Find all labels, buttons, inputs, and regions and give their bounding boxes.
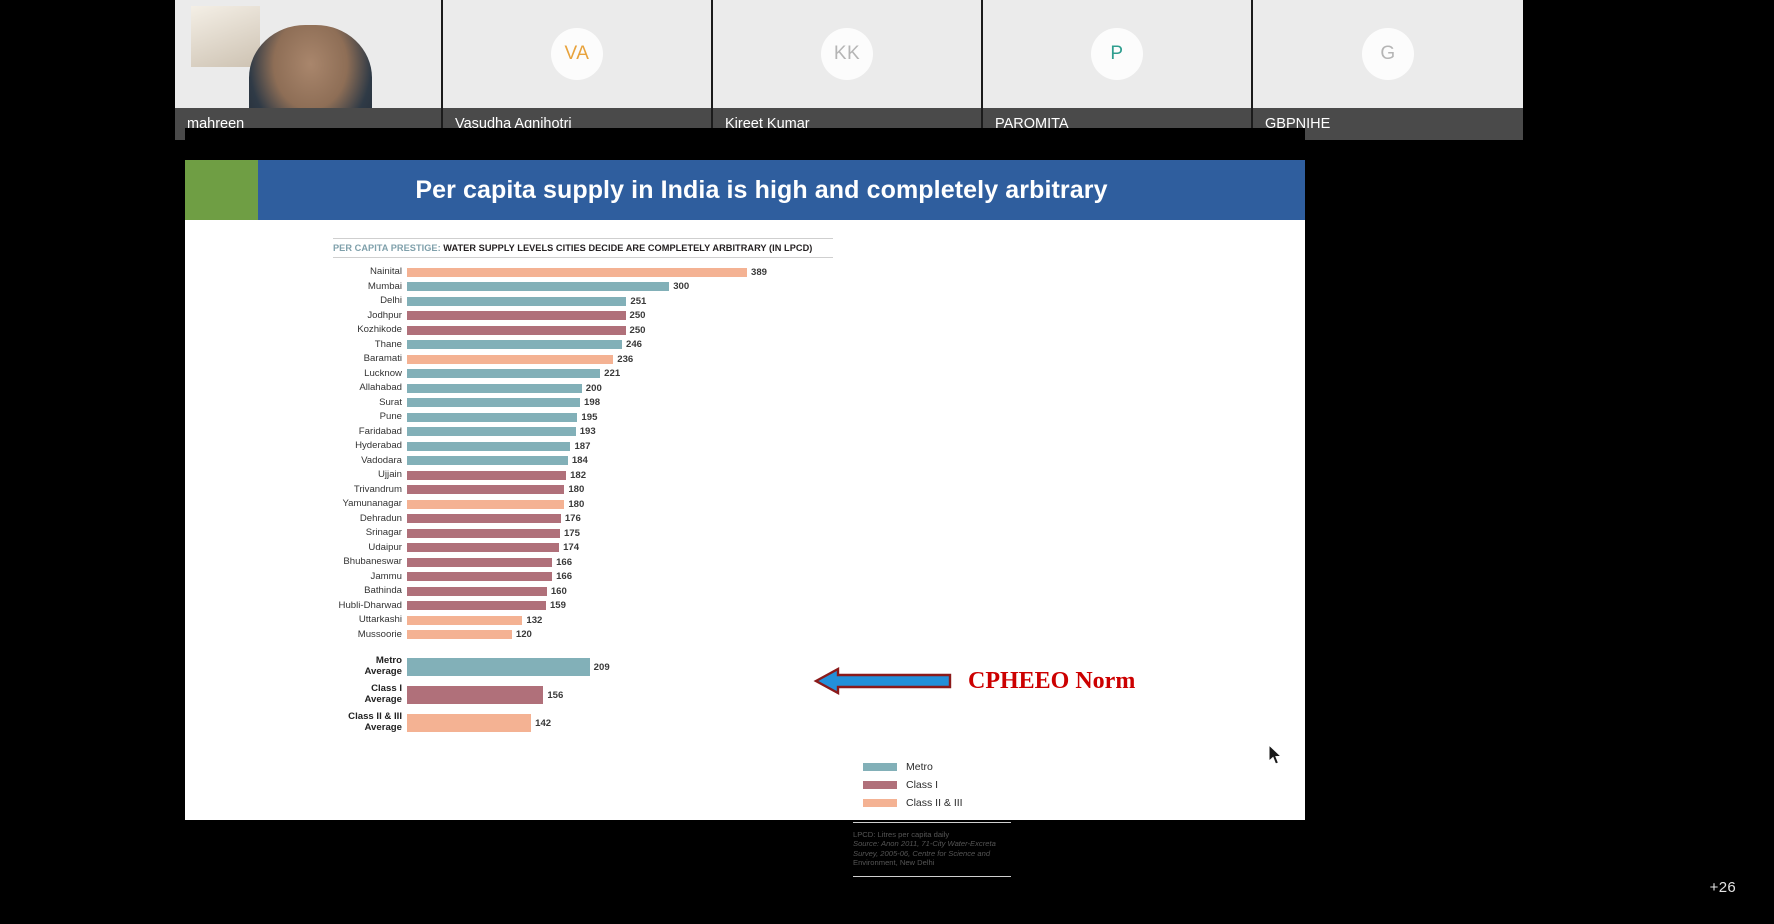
bar-row: Lucknow221 xyxy=(333,367,833,382)
average-rows-container: MetroAverage209Class IAverage156Class II… xyxy=(333,656,833,734)
legend-swatch-icon xyxy=(863,781,897,789)
participant-filmstrip: mahreen VA Vasudha Agnihotri KK Kireet K… xyxy=(175,0,1515,140)
participant-tile-gbpnihe[interactable]: G GBPNIHE xyxy=(1253,0,1523,140)
bar-category-label: Srinagar xyxy=(333,528,407,538)
bar-category-label: Kozhikode xyxy=(333,325,407,335)
left-arrow-icon xyxy=(812,666,954,696)
bar xyxy=(407,616,522,625)
bar-row: Jodhpur250 xyxy=(333,309,833,324)
bar-category-label: Yamunanagar xyxy=(333,499,407,509)
bar-track: 300 xyxy=(407,281,833,292)
bar-category-label: Surat xyxy=(333,398,407,408)
bar-row: Mussoorie120 xyxy=(333,628,833,643)
overflow-participants-badge[interactable]: +26 xyxy=(1710,879,1736,896)
bar-category-label: Lucknow xyxy=(333,369,407,379)
bar-category-label: Hyderabad xyxy=(333,441,407,451)
bar-track: 198 xyxy=(407,397,833,408)
bar-track: 166 xyxy=(407,557,833,568)
bar-value-label: 166 xyxy=(556,557,572,568)
presentation-slide: Per capita supply in India is high and c… xyxy=(185,160,1305,820)
slide-header: Per capita supply in India is high and c… xyxy=(185,160,1305,220)
bar-row: Hyderabad187 xyxy=(333,439,833,454)
bar-value-label: 195 xyxy=(581,412,597,423)
chart-title-prefix: PER CAPITA PRESTIGE: xyxy=(333,243,441,253)
bar-category-label: Trivandrum xyxy=(333,485,407,495)
bar-row: Surat198 xyxy=(333,396,833,411)
bar-value-label: 174 xyxy=(563,542,579,553)
bar-value-label: 180 xyxy=(568,484,584,495)
average-row: MetroAverage209 xyxy=(333,656,833,678)
bar-track: 120 xyxy=(407,629,833,640)
bar-track: 176 xyxy=(407,513,833,524)
avatar: VA xyxy=(551,28,603,80)
bar xyxy=(407,384,582,393)
bar-row: Uttarkashi132 xyxy=(333,613,833,628)
bar-category-label: Nainital xyxy=(333,267,407,277)
average-value-label: 209 xyxy=(594,662,610,673)
bar-track: 166 xyxy=(407,571,833,582)
screen-root: mahreen VA Vasudha Agnihotri KK Kireet K… xyxy=(0,0,1774,924)
average-value-label: 142 xyxy=(535,718,551,729)
bar-value-label: 236 xyxy=(617,354,633,365)
chart-title-main: WATER SUPPLY LEVELS CITIES DECIDE ARE CO… xyxy=(443,243,812,253)
note-line: LPCD: Litres per capita daily xyxy=(853,830,1011,839)
bar-row: Yamunanagar180 xyxy=(333,497,833,512)
bar-track: 160 xyxy=(407,586,833,597)
bar-track: 250 xyxy=(407,325,833,336)
bar xyxy=(407,282,669,291)
average-bar xyxy=(407,714,531,732)
bar-row: Trivandrum180 xyxy=(333,483,833,498)
bar-category-label: Ujjain xyxy=(333,470,407,480)
avatar: G xyxy=(1362,28,1414,80)
legend-swatch-icon xyxy=(863,763,897,771)
bar-row: Vadodara184 xyxy=(333,454,833,469)
bar-row: Pune195 xyxy=(333,410,833,425)
bar xyxy=(407,442,570,451)
average-bar-track: 142 xyxy=(407,714,833,732)
bar-category-label: Allahabad xyxy=(333,383,407,393)
bar-track: 174 xyxy=(407,542,833,553)
bar-value-label: 198 xyxy=(584,397,600,408)
bar-value-label: 176 xyxy=(565,513,581,524)
bar xyxy=(407,413,577,422)
bar-category-label: Hubli-Dharwad xyxy=(333,601,407,611)
average-bar-track: 156 xyxy=(407,686,833,704)
bar xyxy=(407,427,576,436)
average-row: Class IAverage156 xyxy=(333,684,833,706)
legend-item-class-i: Class I xyxy=(863,776,963,794)
bar xyxy=(407,456,568,465)
bar-track: 236 xyxy=(407,354,833,365)
bar-track: 180 xyxy=(407,484,833,495)
avatar-wrap: KK xyxy=(713,0,981,108)
note-line: Survey, 2005-06, Centre for Science and xyxy=(853,849,1011,858)
bar-row: Dehradun176 xyxy=(333,512,833,527)
bar-row: Delhi251 xyxy=(333,294,833,309)
note-line: Source: Anon 2011, 71-City Water-Excreta xyxy=(853,839,1011,848)
bar-value-label: 132 xyxy=(526,615,542,626)
bar-category-label: Pune xyxy=(333,412,407,422)
cpheeo-callout-label: CPHEEO Norm xyxy=(968,668,1135,695)
bar-row: Mumbai300 xyxy=(333,280,833,295)
bar-track: 187 xyxy=(407,441,833,452)
average-bar xyxy=(407,686,543,704)
bar-chart: PER CAPITA PRESTIGE: WATER SUPPLY LEVELS… xyxy=(333,238,833,740)
bar-value-label: 200 xyxy=(586,383,602,394)
bar-value-label: 246 xyxy=(626,339,642,350)
bar xyxy=(407,268,747,277)
bar-category-label: Bhubaneswar xyxy=(333,557,407,567)
bar xyxy=(407,558,552,567)
cpheeo-callout: CPHEEO Norm xyxy=(812,666,1135,696)
bar xyxy=(407,297,626,306)
bar-track: 175 xyxy=(407,528,833,539)
bar xyxy=(407,529,560,538)
bar xyxy=(407,630,512,639)
bar-row: Srinagar175 xyxy=(333,526,833,541)
bar-value-label: 159 xyxy=(550,600,566,611)
bar-category-label: Udaipur xyxy=(333,543,407,553)
bar-category-label: Baramati xyxy=(333,354,407,364)
bar-track: 159 xyxy=(407,600,833,611)
avatar-wrap: VA xyxy=(443,0,711,108)
bar-category-label: Faridabad xyxy=(333,427,407,437)
bar-value-label: 166 xyxy=(556,571,572,582)
bar-value-label: 193 xyxy=(580,426,596,437)
bar-track: 221 xyxy=(407,368,833,379)
average-category-label: Class IAverage xyxy=(333,684,407,705)
bar-category-label: Mussoorie xyxy=(333,630,407,640)
slide-header-accent xyxy=(185,160,258,220)
bar-track: 251 xyxy=(407,296,833,307)
bar-rows-container: Nainital389Mumbai300Delhi251Jodhpur250Ko… xyxy=(333,265,833,642)
bar-value-label: 182 xyxy=(570,470,586,481)
bar-category-label: Bathinda xyxy=(333,586,407,596)
bar xyxy=(407,514,561,523)
bar-value-label: 120 xyxy=(516,629,532,640)
participant-tile-paromita[interactable]: P PAROMITA xyxy=(983,0,1253,140)
bar-category-label: Vadodara xyxy=(333,456,407,466)
bar-row: Faridabad193 xyxy=(333,425,833,440)
bar-category-label: Delhi xyxy=(333,296,407,306)
bar-value-label: 250 xyxy=(630,310,646,321)
legend-item-class-ii-iii: Class II & III xyxy=(863,794,963,812)
bar xyxy=(407,326,626,335)
average-bar-track: 209 xyxy=(407,658,833,676)
participant-tile-vasudha-agnihotri[interactable]: VA Vasudha Agnihotri xyxy=(443,0,713,140)
bar-row: Hubli-Dharwad159 xyxy=(333,599,833,614)
chart-title: PER CAPITA PRESTIGE: WATER SUPPLY LEVELS… xyxy=(333,238,833,258)
bar-track: 200 xyxy=(407,383,833,394)
bar-value-label: 251 xyxy=(630,296,646,307)
bar-row: Nainital389 xyxy=(333,265,833,280)
legend-swatch-icon xyxy=(863,799,897,807)
legend-label: Class I xyxy=(906,779,938,791)
bar-row: Baramati236 xyxy=(333,352,833,367)
bar xyxy=(407,311,626,320)
bar-value-label: 389 xyxy=(751,267,767,278)
legend-label: Class II & III xyxy=(906,797,963,809)
bar xyxy=(407,601,546,610)
bar xyxy=(407,500,564,509)
avatar-wrap: G xyxy=(1253,0,1523,108)
bar xyxy=(407,543,559,552)
bar xyxy=(407,485,564,494)
bar-track: 193 xyxy=(407,426,833,437)
bar-track: 195 xyxy=(407,412,833,423)
bar-value-label: 300 xyxy=(673,281,689,292)
slide-title: Per capita supply in India is high and c… xyxy=(258,176,1305,205)
bar-row: Udaipur174 xyxy=(333,541,833,556)
bar-value-label: 187 xyxy=(574,441,590,452)
bar-value-label: 160 xyxy=(551,586,567,597)
chart-source-note: LPCD: Litres per capita daily Source: An… xyxy=(853,822,1011,877)
bar-track: 180 xyxy=(407,499,833,510)
bar-value-label: 250 xyxy=(630,325,646,336)
chart-legend: Metro Class I Class II & III xyxy=(863,758,963,812)
avatar: P xyxy=(1091,28,1143,80)
legend-item-metro: Metro xyxy=(863,758,963,776)
bar-track: 250 xyxy=(407,310,833,321)
bar xyxy=(407,355,613,364)
bar-value-label: 180 xyxy=(568,499,584,510)
shared-screen-area: Per capita supply in India is high and c… xyxy=(185,128,1305,918)
bar-category-label: Mumbai xyxy=(333,282,407,292)
chart-area: PER CAPITA PRESTIGE: WATER SUPPLY LEVELS… xyxy=(185,220,1305,820)
bar-row: Bhubaneswar166 xyxy=(333,555,833,570)
avatar: KK xyxy=(821,28,873,80)
bar-row: Ujjain182 xyxy=(333,468,833,483)
bar-track: 184 xyxy=(407,455,833,466)
slide-header-bar: Per capita supply in India is high and c… xyxy=(258,160,1305,220)
note-line: Environment, New Delhi xyxy=(853,858,1011,867)
average-row: Class II & IIIAverage142 xyxy=(333,712,833,734)
bar xyxy=(407,398,580,407)
bar-category-label: Thane xyxy=(333,340,407,350)
bar xyxy=(407,572,552,581)
legend-label: Metro xyxy=(906,761,933,773)
bar-category-label: Jammu xyxy=(333,572,407,582)
average-bar xyxy=(407,658,590,676)
bar-category-label: Jodhpur xyxy=(333,311,407,321)
bar-row: Bathinda160 xyxy=(333,584,833,599)
bar-track: 389 xyxy=(407,267,833,278)
mouse-cursor-icon xyxy=(1269,745,1283,770)
bar-row: Thane246 xyxy=(333,338,833,353)
bar-row: Kozhikode250 xyxy=(333,323,833,338)
bar-value-label: 184 xyxy=(572,455,588,466)
bar-value-label: 221 xyxy=(604,368,620,379)
average-value-label: 156 xyxy=(547,690,563,701)
participant-tile-mahreen[interactable]: mahreen xyxy=(175,0,443,140)
bar xyxy=(407,587,547,596)
bar-category-label: Dehradun xyxy=(333,514,407,524)
bar-track: 132 xyxy=(407,615,833,626)
bar-track: 182 xyxy=(407,470,833,481)
avatar-wrap: P xyxy=(983,0,1251,108)
bar-row: Allahabad200 xyxy=(333,381,833,396)
bar xyxy=(407,471,566,480)
bar-track: 246 xyxy=(407,339,833,350)
bar-row: Jammu166 xyxy=(333,570,833,585)
bar-value-label: 175 xyxy=(564,528,580,539)
bar-category-label: Uttarkashi xyxy=(333,615,407,625)
bar xyxy=(407,369,600,378)
average-category-label: MetroAverage xyxy=(333,656,407,677)
average-category-label: Class II & IIIAverage xyxy=(333,712,407,733)
participant-tile-kireet-kumar[interactable]: KK Kireet Kumar xyxy=(713,0,983,140)
bar xyxy=(407,340,622,349)
